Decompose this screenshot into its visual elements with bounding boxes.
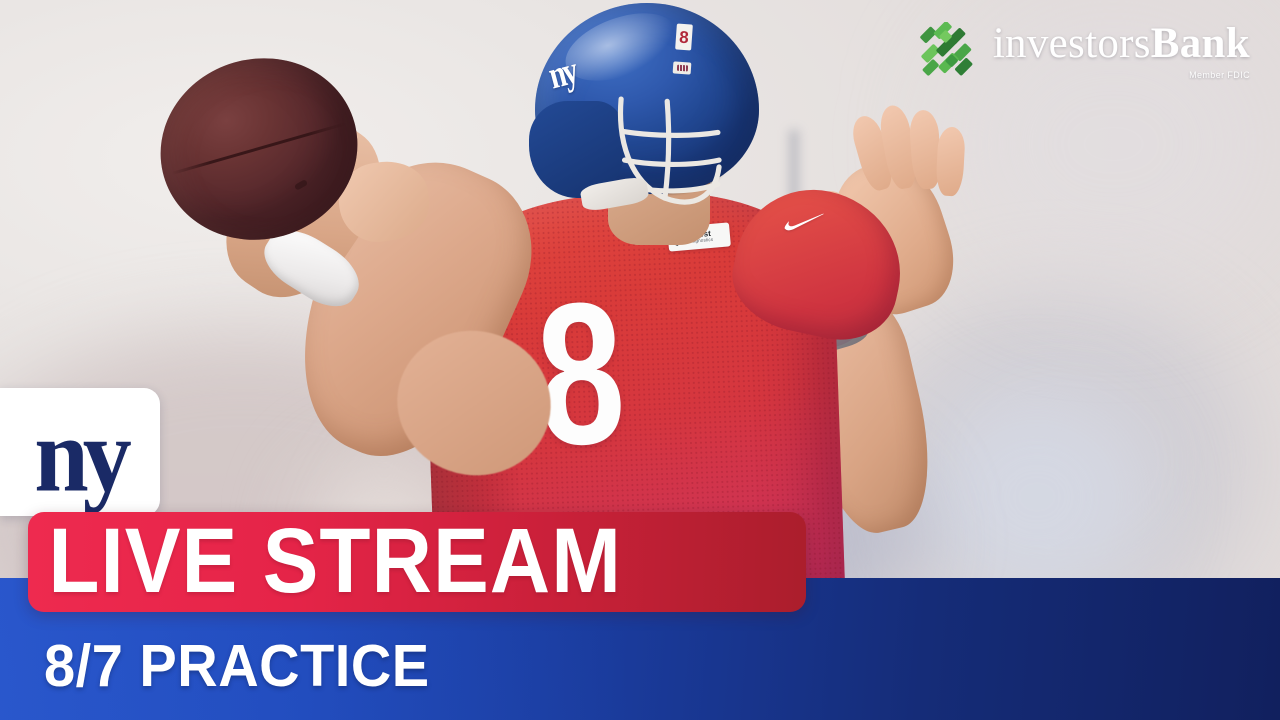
practice-subtitle: 8/7 PRACTICE — [44, 636, 430, 695]
jersey-number: 8 — [533, 280, 625, 470]
sponsor-fdic-disclaimer: Member FDIC — [1189, 70, 1250, 80]
live-stream-banner: LIVE STREAM — [28, 512, 806, 612]
thumbnail-canvas: 8 Quest Diagnostics — [0, 0, 1280, 720]
investors-bank-weave-icon — [917, 22, 979, 80]
sponsor-name-light: investors — [993, 20, 1151, 67]
player-finger — [935, 126, 965, 196]
ny-giants-logo-icon: ny — [34, 414, 126, 499]
sponsor-name-bold: Bank — [1151, 20, 1250, 67]
helmet-number-sticker: 8 — [675, 23, 693, 50]
investors-bank-logo: investorsBank Member FDIC — [917, 22, 1250, 80]
live-stream-headline: LIVE STREAM — [48, 516, 622, 608]
helmet-decal-sticker — [673, 61, 692, 74]
sponsor-name: investorsBank — [993, 22, 1250, 65]
ny-giants-logo-badge: ny — [0, 388, 160, 516]
nike-swoosh-icon — [783, 212, 825, 232]
